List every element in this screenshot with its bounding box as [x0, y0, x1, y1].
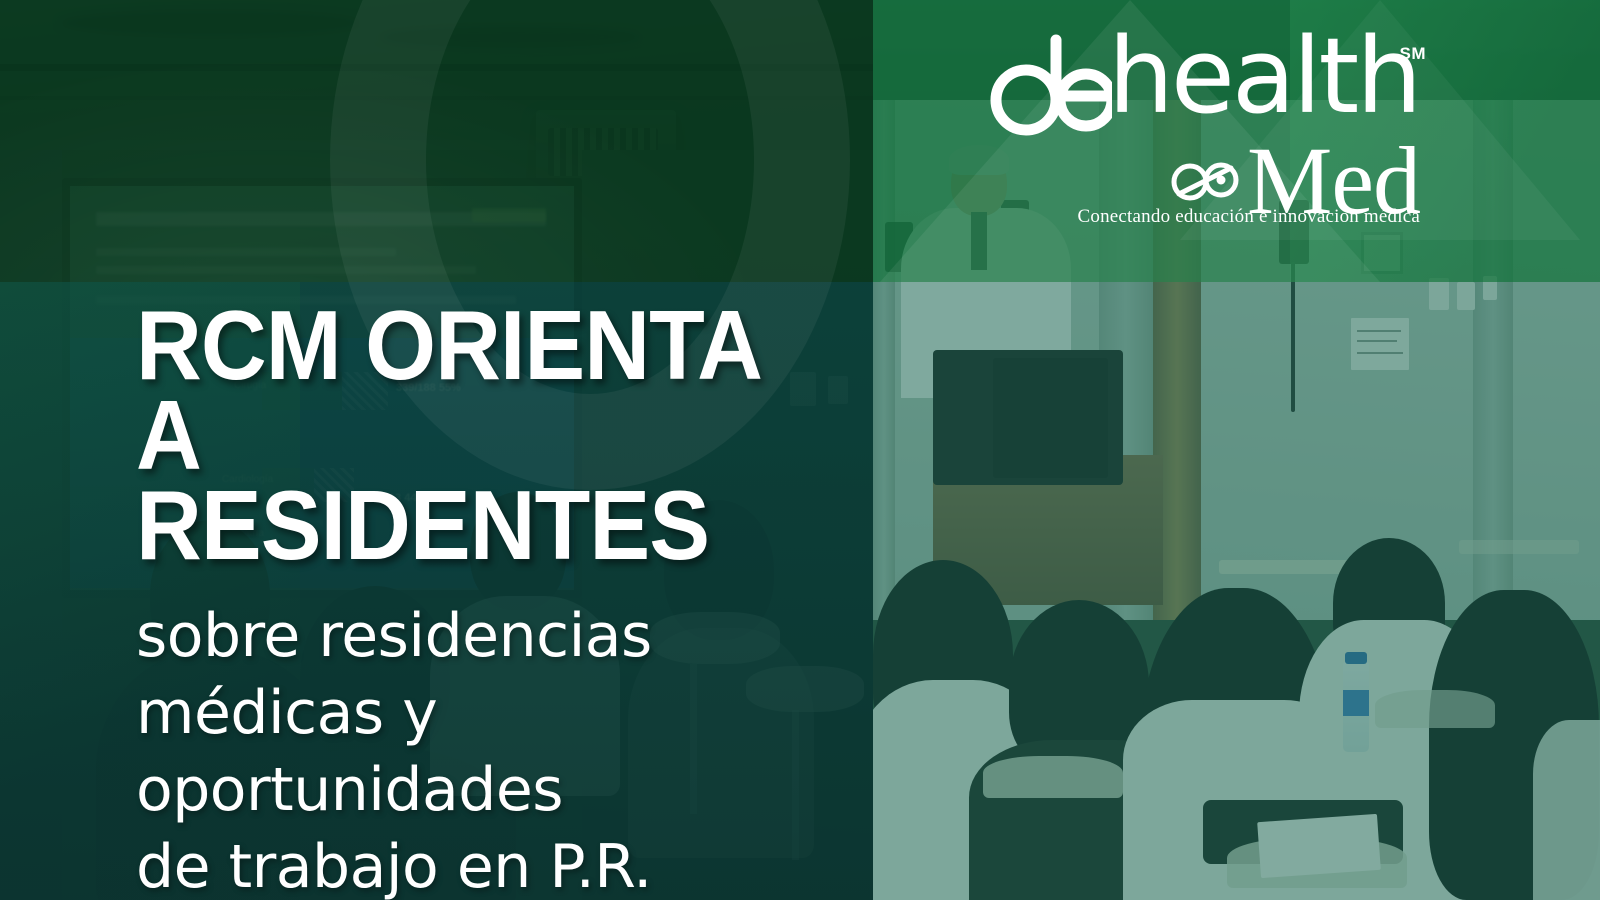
logo-health-text: health [1108, 24, 1419, 128]
overlay-top-left [0, 0, 873, 282]
subheadline-line-2: médicas y [136, 675, 836, 752]
poster-canvas: 339/188 55% Cirugía Cardiología 259/113 … [0, 0, 1600, 900]
behealth-med-logo[interactable]: health SM Med Conectando educación e inn… [990, 30, 1420, 235]
logo-service-mark: SM [1400, 44, 1427, 64]
subheadline: sobre residencias médicas y oportunidade… [136, 598, 836, 900]
headline: RCM ORIENTA A RESIDENTES [136, 300, 787, 570]
logo-tagline: Conectando educación e innovación médica [1078, 206, 1420, 228]
copy-block: RCM ORIENTA A RESIDENTES sobre residenci… [136, 300, 836, 900]
be-infinity-icon [990, 34, 1112, 143]
headline-line-2: A RESIDENTES [136, 390, 787, 570]
overlay-bottom-right [873, 282, 1600, 900]
stethoscope-infinity-icon [1171, 156, 1241, 213]
logo-primary-row: health SM [990, 30, 1420, 140]
subheadline-line-3: oportunidades [136, 752, 836, 829]
subheadline-line-4: de trabajo en P.R. [136, 829, 836, 900]
subheadline-line-1: sobre residencias [136, 598, 836, 675]
logo-secondary-row: Med [990, 138, 1420, 210]
headline-line-1: RCM ORIENTA [136, 300, 787, 390]
